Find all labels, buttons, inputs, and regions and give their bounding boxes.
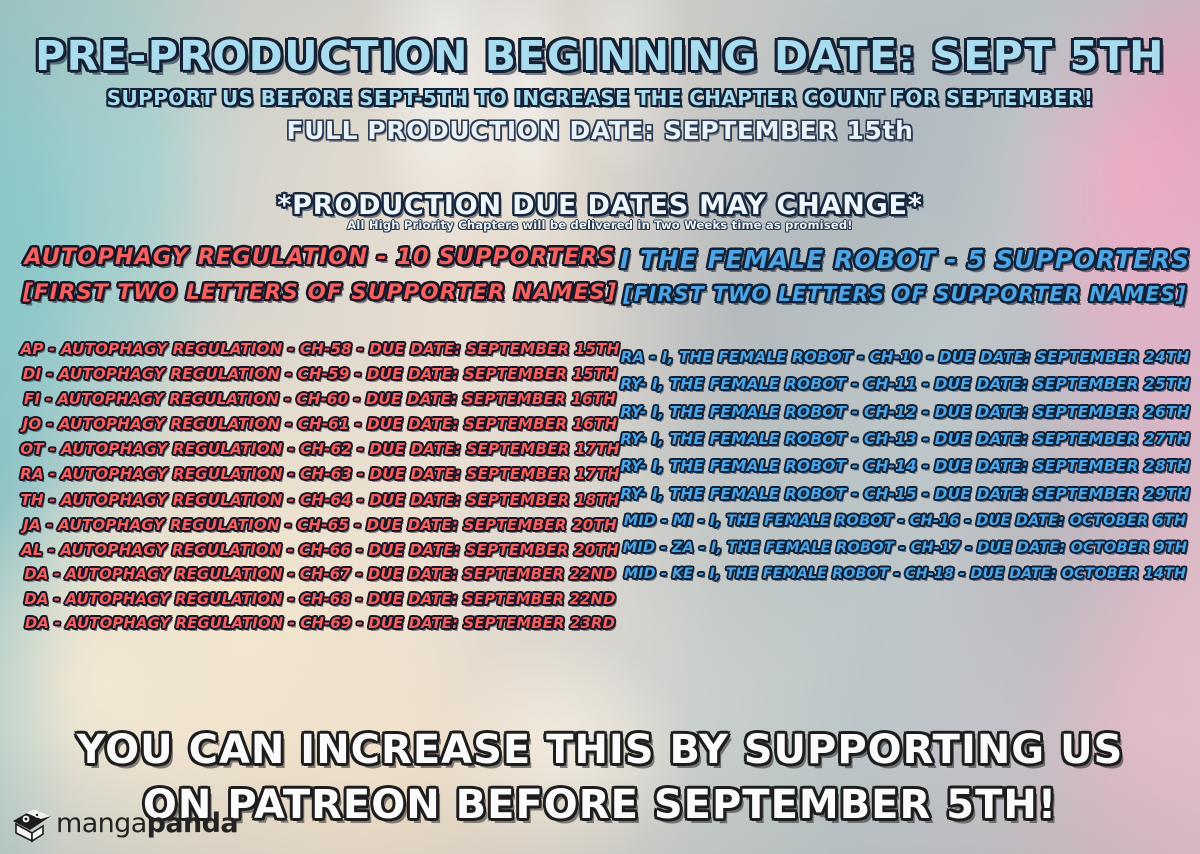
page-subtitle: SUPPORT US BEFORE SEPT-5TH TO INCREASE T… bbox=[0, 88, 1200, 108]
list-item: RY- I, THE FEMALE ROBOT - CH-13 - DUE DA… bbox=[620, 432, 1190, 447]
list-item: JO - AUTOPHAGY REGULATION - CH-61 - DUE … bbox=[20, 417, 620, 432]
list-item: RY- I, THE FEMALE ROBOT - CH-15 - DUE DA… bbox=[620, 487, 1190, 502]
high-priority-fine-print: All High Priority Chapters will be deliv… bbox=[0, 220, 1200, 232]
schedule-list-autophagy-regulation: AP - AUTOPHAGY REGULATION - CH-58 - DUE … bbox=[20, 342, 620, 632]
list-item: DA - AUTOPHAGY REGULATION - CH-68 - DUE … bbox=[20, 593, 620, 608]
column-subtitle-autophagy-regulation: [FIRST TWO LETTERS OF SUPPORTER NAMES] bbox=[20, 282, 620, 303]
list-item: TH - AUTOPHAGY REGULATION - CH-64 - DUE … bbox=[20, 493, 620, 508]
due-dates-notice: *PRODUCTION DUE DATES MAY CHANGE* bbox=[0, 192, 1200, 219]
list-item: DI - AUTOPHAGY REGULATION - CH-59 - DUE … bbox=[20, 367, 620, 382]
list-item: MID - KE - I, THE FEMALE ROBOT - CH-18 -… bbox=[620, 567, 1190, 581]
watermark-text-bold: panda bbox=[147, 808, 238, 839]
list-item: DA - AUTOPHAGY REGULATION - CH-69 - DUE … bbox=[20, 617, 620, 632]
list-item: MID - MI - I, THE FEMALE ROBOT - CH-16 -… bbox=[620, 514, 1190, 529]
watermark-text: mangapanda bbox=[56, 810, 238, 837]
list-item: DA - AUTOPHAGY REGULATION - CH-67 - DUE … bbox=[20, 568, 620, 583]
watermark-text-light: manga bbox=[56, 808, 147, 839]
announcement-content: PRE-PRODUCTION BEGINNING DATE: SEPT 5TH … bbox=[0, 0, 1200, 854]
full-production-date: FULL PRODUCTION DATE: SEPTEMBER 15th bbox=[0, 118, 1200, 143]
column-title-autophagy-regulation: AUTOPHAGY REGULATION - 10 SUPPORTERS bbox=[20, 246, 620, 268]
list-item: AP - AUTOPHAGY REGULATION - CH-58 - DUE … bbox=[20, 342, 620, 357]
list-item: RY- I, THE FEMALE ROBOT - CH-14 - DUE DA… bbox=[620, 459, 1190, 474]
page-title: PRE-PRODUCTION BEGINNING DATE: SEPT 5TH bbox=[0, 36, 1200, 77]
schedule-list-female-robot: RA - I, THE FEMALE ROBOT - CH-10 - DUE D… bbox=[620, 350, 1190, 581]
list-item: RY- I, THE FEMALE ROBOT - CH-12 - DUE DA… bbox=[620, 405, 1190, 420]
list-item: OT - AUTOPHAGY REGULATION - CH-62 - DUE … bbox=[20, 442, 620, 457]
list-item: AL - AUTOPHAGY REGULATION - CH-66 - DUE … bbox=[20, 543, 620, 558]
list-item: MID - ZA - I, THE FEMALE ROBOT - CH-17 -… bbox=[620, 541, 1190, 556]
announcement-page: PRE-PRODUCTION BEGINNING DATE: SEPT 5TH … bbox=[0, 0, 1200, 854]
mangapanda-watermark: mangapanda bbox=[10, 800, 238, 846]
footer-cta-line-1: YOU CAN INCREASE THIS BY SUPPORTING US bbox=[0, 730, 1200, 770]
list-item: RA - AUTOPHAGY REGULATION - CH-63 - DUE … bbox=[20, 467, 620, 482]
column-subtitle-female-robot: [FIRST TWO LETTERS OF SUPPORTER NAMES] bbox=[620, 284, 1190, 304]
panda-book-logo-icon bbox=[10, 803, 54, 843]
list-item: FI - AUTOPHAGY REGULATION - CH-60 - DUE … bbox=[20, 392, 620, 407]
column-title-female-robot: I THE FEMALE ROBOT - 5 SUPPORTERS bbox=[620, 248, 1190, 273]
list-item: RY- I, THE FEMALE ROBOT - CH-11 - DUE DA… bbox=[620, 377, 1190, 392]
list-item: RA - I, THE FEMALE ROBOT - CH-10 - DUE D… bbox=[620, 350, 1190, 365]
list-item: JA - AUTOPHAGY REGULATION - CH-65 - DUE … bbox=[20, 518, 620, 533]
